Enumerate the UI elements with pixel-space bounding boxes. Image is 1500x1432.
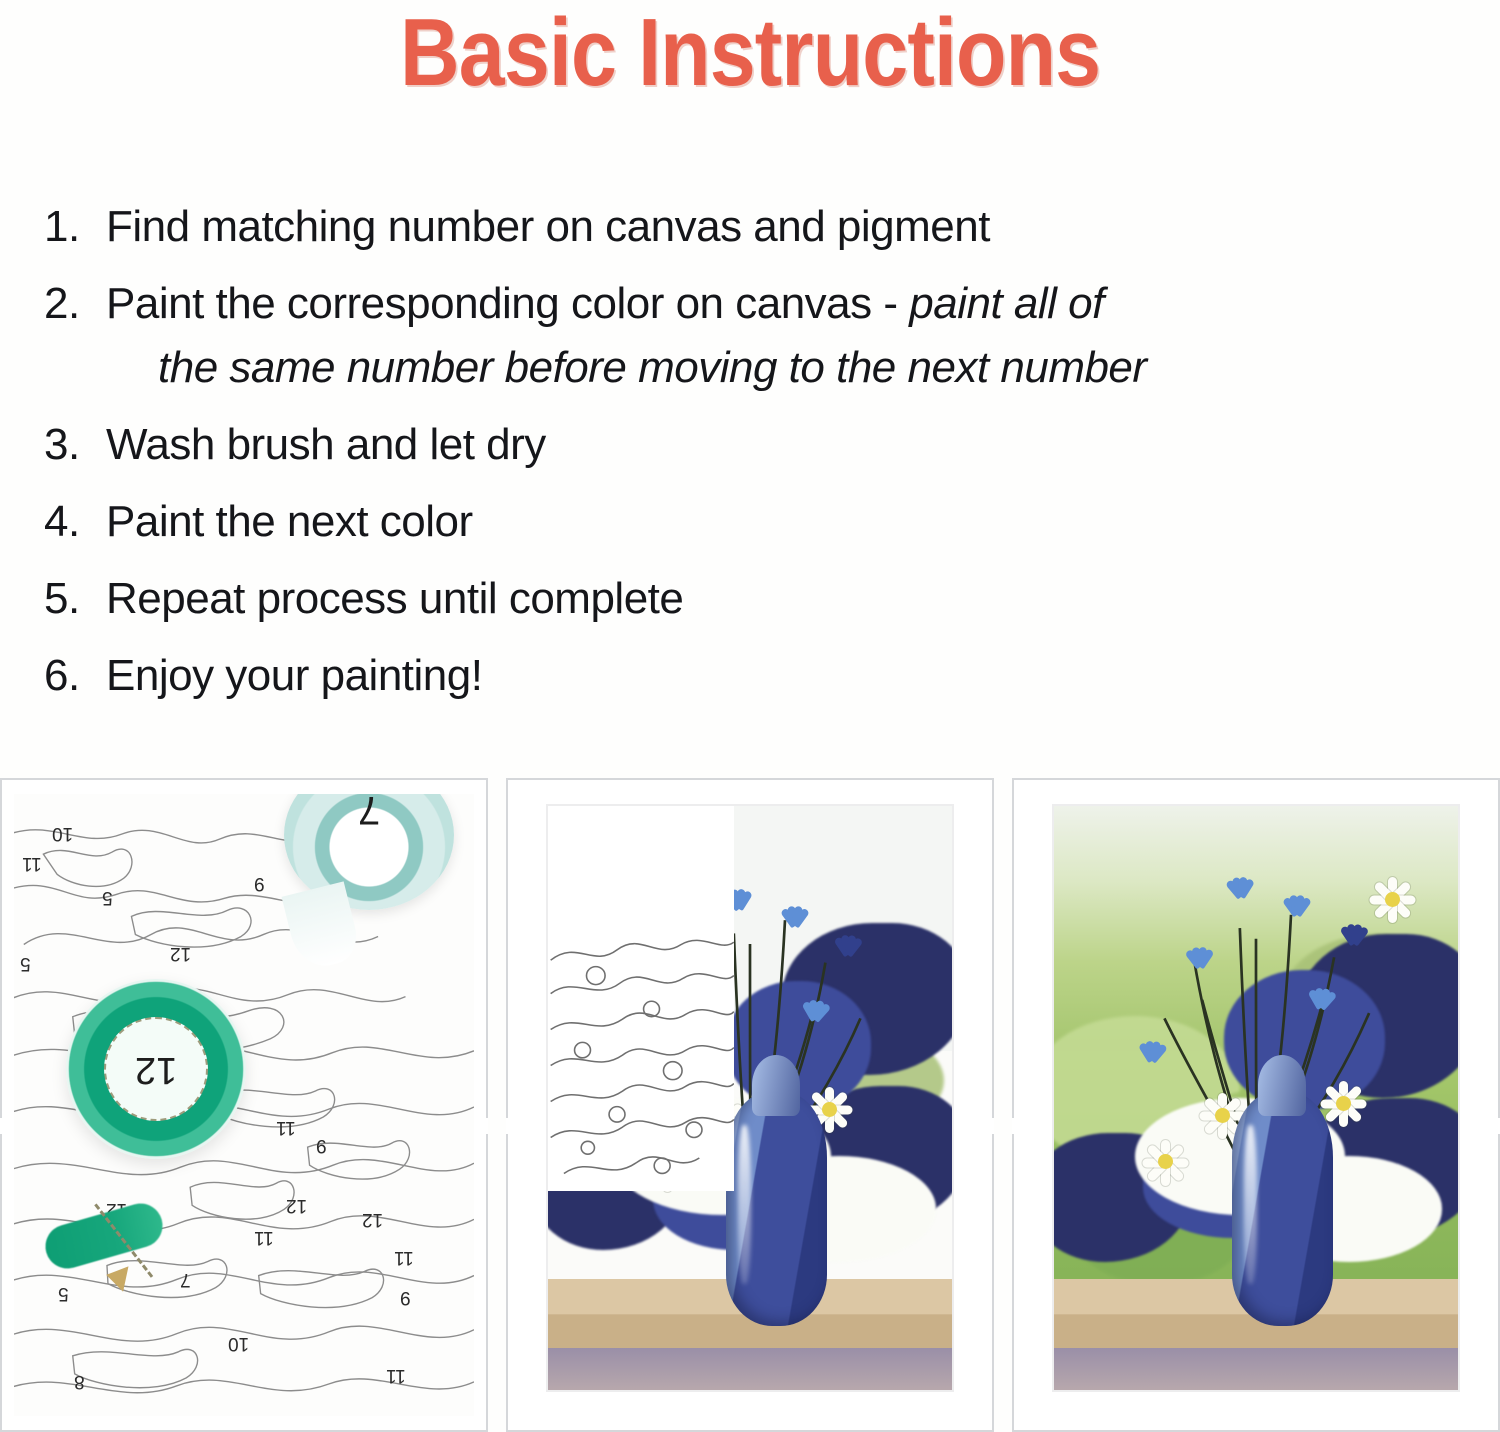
unpainted-outlines-svg: [548, 806, 734, 1191]
instruction-text-2-italic: paint all of: [909, 279, 1104, 328]
canvas-number: 5: [58, 1282, 69, 1304]
blue-vase: [726, 1092, 827, 1326]
canvas-number: 5: [20, 952, 31, 974]
panel-artwork-partially-painted: [546, 804, 954, 1392]
instruction-list: 1. Find matching number on canvas and pi…: [44, 205, 1464, 731]
cornflower-dark: [823, 934, 873, 974]
instruction-number-4: 4.: [44, 500, 106, 544]
instruction-number-5: 5.: [44, 577, 106, 621]
panel-completed-painting: [1012, 778, 1500, 1432]
instruction-item-1: 1. Find matching number on canvas and pi…: [44, 205, 1464, 249]
canvas-number: 11: [394, 1246, 414, 1268]
instruction-text-6: Enjoy your painting!: [106, 654, 1464, 698]
cornflower: [1175, 946, 1225, 986]
panel-canvas-with-paint-pots: 11 10 5 9 12 5 8 12 12 15 11 9 12 11 12 …: [0, 778, 488, 1432]
canvas-number: 5: [102, 886, 113, 908]
canvas-number: 11: [386, 1364, 406, 1386]
instruction-number-6: 6.: [44, 654, 106, 698]
canvas-number: 11: [22, 852, 42, 874]
canvas-number: 11: [254, 1226, 274, 1248]
canvas-number: 12: [286, 1194, 307, 1216]
canvas-number: 9: [316, 1134, 327, 1156]
instruction-text-4: Paint the next color: [106, 500, 1464, 544]
page-title: Basic Instructions: [400, 4, 1100, 102]
cornflower: [1216, 876, 1266, 916]
instruction-item-6: 6. Enjoy your painting!: [44, 654, 1464, 698]
cornflower: [790, 999, 840, 1039]
instruction-text-2-continuation: the same number before moving to the nex…: [158, 346, 1464, 390]
page-header: Basic Instructions: [0, 0, 1500, 102]
instruction-item-4: 4. Paint the next color: [44, 500, 1464, 544]
canvas-number: 10: [228, 1332, 249, 1354]
daisy-flower: [1369, 876, 1415, 922]
canvas-number: 9: [400, 1286, 411, 1308]
instruction-item-5: 5. Repeat process until complete: [44, 577, 1464, 621]
daisy-flower: [1143, 1139, 1189, 1185]
panel-artwork-completed: [1052, 804, 1460, 1392]
paint-pot-label: 7: [358, 794, 380, 832]
canvas-number: 8: [74, 1370, 85, 1392]
instruction-text-5: Repeat process until complete: [106, 577, 1464, 621]
daisy-flower: [1321, 1080, 1367, 1126]
canvas-number: 7: [180, 1268, 191, 1290]
canvas-number: 12: [362, 1208, 383, 1230]
canvas-number: 12: [170, 942, 191, 964]
panel-row: 11 10 5 9 12 5 8 12 12 15 11 9 12 11 12 …: [0, 778, 1500, 1432]
paint-pot-12: 12: [66, 979, 246, 1159]
canvas-number: 10: [52, 822, 73, 844]
paint-pot-label: 12: [135, 1048, 177, 1091]
instruction-number-1: 1.: [44, 205, 106, 249]
cornflower: [770, 905, 820, 945]
panel-artwork-outline-canvas: 11 10 5 9 12 5 8 12 12 15 11 9 12 11 12 …: [14, 794, 474, 1416]
panel-partially-painted-canvas: [506, 778, 994, 1432]
canvas-number: 9: [254, 872, 265, 894]
instruction-item-3: 3. Wash brush and let dry: [44, 423, 1464, 467]
cornflower-dark: [1329, 923, 1379, 963]
instruction-item-2: 2. Paint the corresponding color on canv…: [44, 282, 1464, 390]
cornflower: [1127, 1040, 1177, 1080]
instruction-text-2: Paint the corresponding color on canvas …: [106, 282, 1464, 390]
instruction-number-3: 3.: [44, 423, 106, 467]
cornflower: [1296, 987, 1346, 1027]
cornflower: [1272, 894, 1322, 934]
instruction-number-2: 2.: [44, 282, 106, 326]
unpainted-outline-region: [548, 806, 734, 1191]
blue-vase: [1232, 1092, 1333, 1326]
instruction-text-3: Wash brush and let dry: [106, 423, 1464, 467]
instruction-text-1: Find matching number on canvas and pigme…: [106, 205, 1464, 249]
instruction-text-2-plain: Paint the corresponding color on canvas …: [106, 279, 909, 328]
canvas-number: 11: [276, 1116, 296, 1138]
